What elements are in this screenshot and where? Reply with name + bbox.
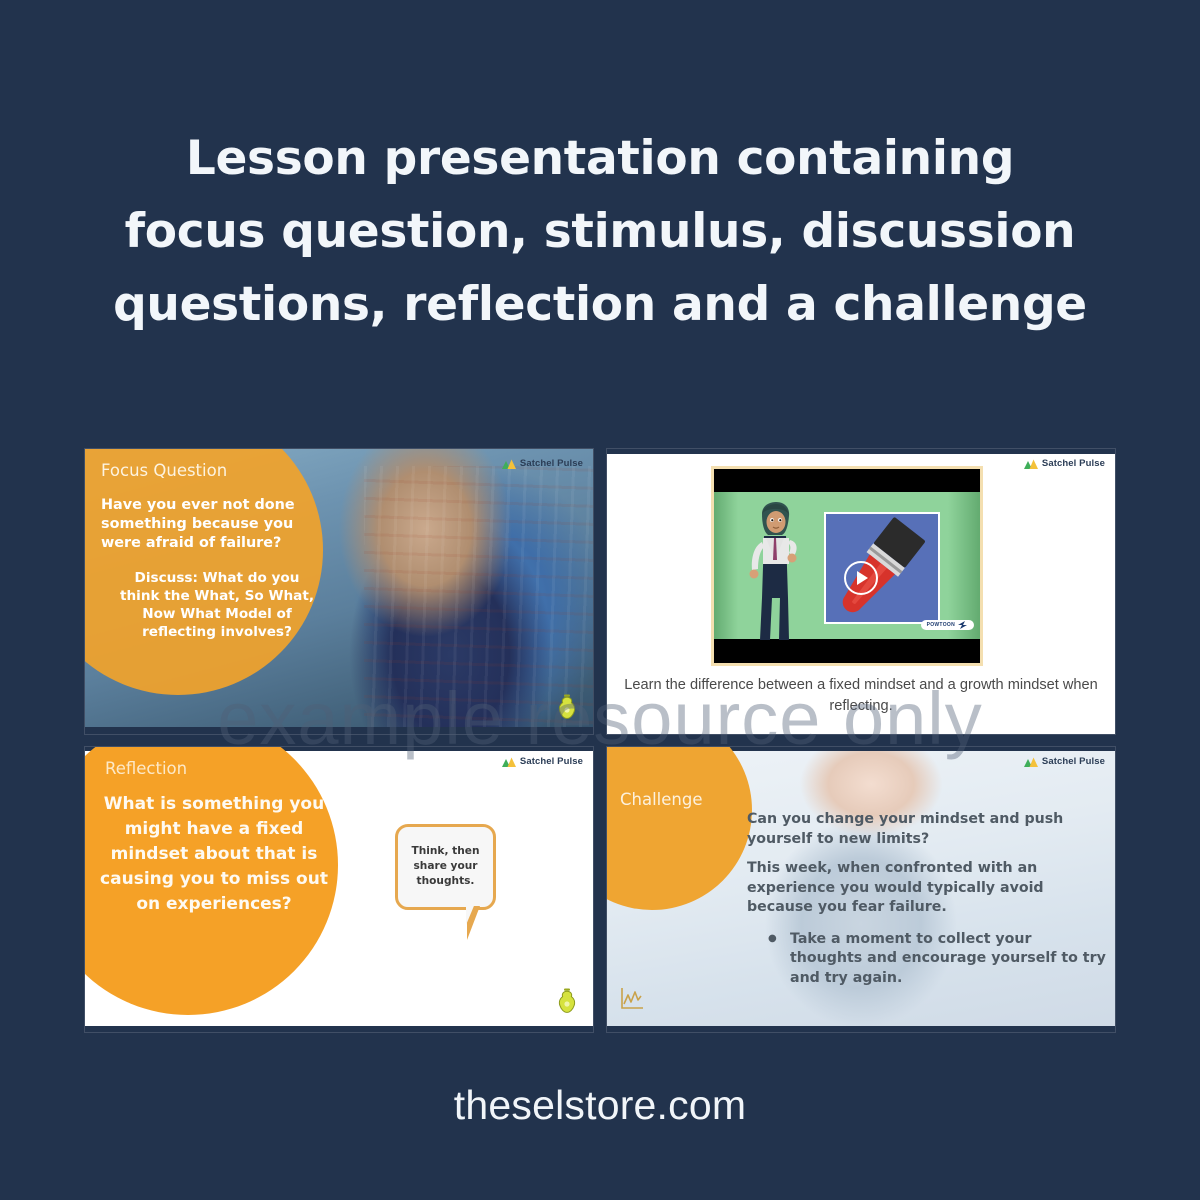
page-title: Lesson presentation containing focus que…	[90, 122, 1110, 341]
satchel-pulse-logo: Satchel Pulse	[1024, 756, 1105, 767]
reflection-question-text: What is something you might have a fixed…	[99, 792, 329, 917]
site-url-footer: theselstore.com	[0, 1082, 1200, 1129]
slide-kicker: Focus Question	[101, 461, 323, 480]
mountains-icon	[1024, 757, 1038, 767]
focus-discuss-prompt: Discuss: What do you think the What, So …	[101, 569, 323, 641]
speech-bubble-tail	[467, 906, 480, 940]
satchel-pulse-logo: Satchel Pulse	[502, 458, 583, 469]
page-title-line-2: focus question, stimulus, discussion	[90, 195, 1110, 268]
page-title-line-3: questions, reflection and a challenge	[90, 268, 1110, 341]
slide-top-strip	[607, 449, 1115, 454]
slide-reflection[interactable]: Satchel Pulse Reflection What is somethi…	[85, 747, 593, 1032]
line-chart-icon	[619, 987, 645, 1011]
slide-kicker: Reflection	[99, 759, 329, 778]
powtoon-arrow-icon	[958, 621, 967, 629]
pear-icon	[557, 694, 577, 720]
slide-text-block: Focus Question Have you ever not done so…	[101, 461, 323, 641]
pear-icon	[557, 988, 577, 1014]
slide-kicker: Challenge	[620, 790, 703, 809]
paintbrush-illustration	[826, 514, 938, 622]
speech-bubble-text: Think, then share your thoughts.	[398, 827, 493, 889]
slide-thumbnail-grid: Satchel Pulse Focus Question Have you ev…	[85, 449, 1115, 1032]
video-player[interactable]: POWTOON	[711, 466, 983, 666]
challenge-paragraph-1: Can you change your mindset and push you…	[747, 810, 1107, 849]
video-caption: Learn the difference between a fixed min…	[617, 675, 1105, 717]
mountains-icon	[502, 459, 516, 469]
video-thumbnail: POWTOON	[714, 492, 980, 639]
satchel-pulse-wordmark: Satchel Pulse	[1042, 756, 1105, 767]
list-item: Take a moment to collect your thoughts a…	[768, 930, 1107, 989]
challenge-paragraph-2: This week, when confronted with an exper…	[747, 859, 1107, 918]
satchel-pulse-wordmark: Satchel Pulse	[520, 756, 583, 767]
slide-bottom-strip	[85, 1026, 593, 1032]
satchel-pulse-logo: Satchel Pulse	[502, 756, 583, 767]
slide-text-block: Can you change your mindset and push you…	[747, 810, 1107, 988]
powtoon-watermark: POWTOON	[921, 620, 974, 630]
focus-question-text: Have you ever not done something because…	[101, 496, 323, 553]
powtoon-label: POWTOON	[927, 622, 955, 628]
slide-text-block: Reflection What is something you might h…	[99, 759, 329, 917]
mountains-icon	[502, 757, 516, 767]
presenter-illustration	[746, 502, 806, 644]
play-icon[interactable]	[844, 561, 878, 595]
satchel-pulse-logo: Satchel Pulse	[1024, 458, 1105, 469]
satchel-pulse-wordmark: Satchel Pulse	[520, 458, 583, 469]
satchel-pulse-wordmark: Satchel Pulse	[1042, 458, 1105, 469]
slide-stimulus-video[interactable]: Satchel Pulse	[607, 449, 1115, 734]
slide-challenge[interactable]: Satchel Pulse Challenge Can you change y…	[607, 747, 1115, 1032]
paintbrush-image	[824, 512, 940, 624]
page-title-line-1: Lesson presentation containing	[90, 122, 1110, 195]
slide-bottom-strip	[607, 1026, 1115, 1032]
speech-bubble-icon: Think, then share your thoughts.	[395, 824, 496, 910]
challenge-bullet-list: Take a moment to collect your thoughts a…	[747, 930, 1107, 989]
mountains-icon	[1024, 459, 1038, 469]
slide-bottom-strip	[85, 727, 593, 734]
slide-focus-question[interactable]: Satchel Pulse Focus Question Have you ev…	[85, 449, 593, 734]
